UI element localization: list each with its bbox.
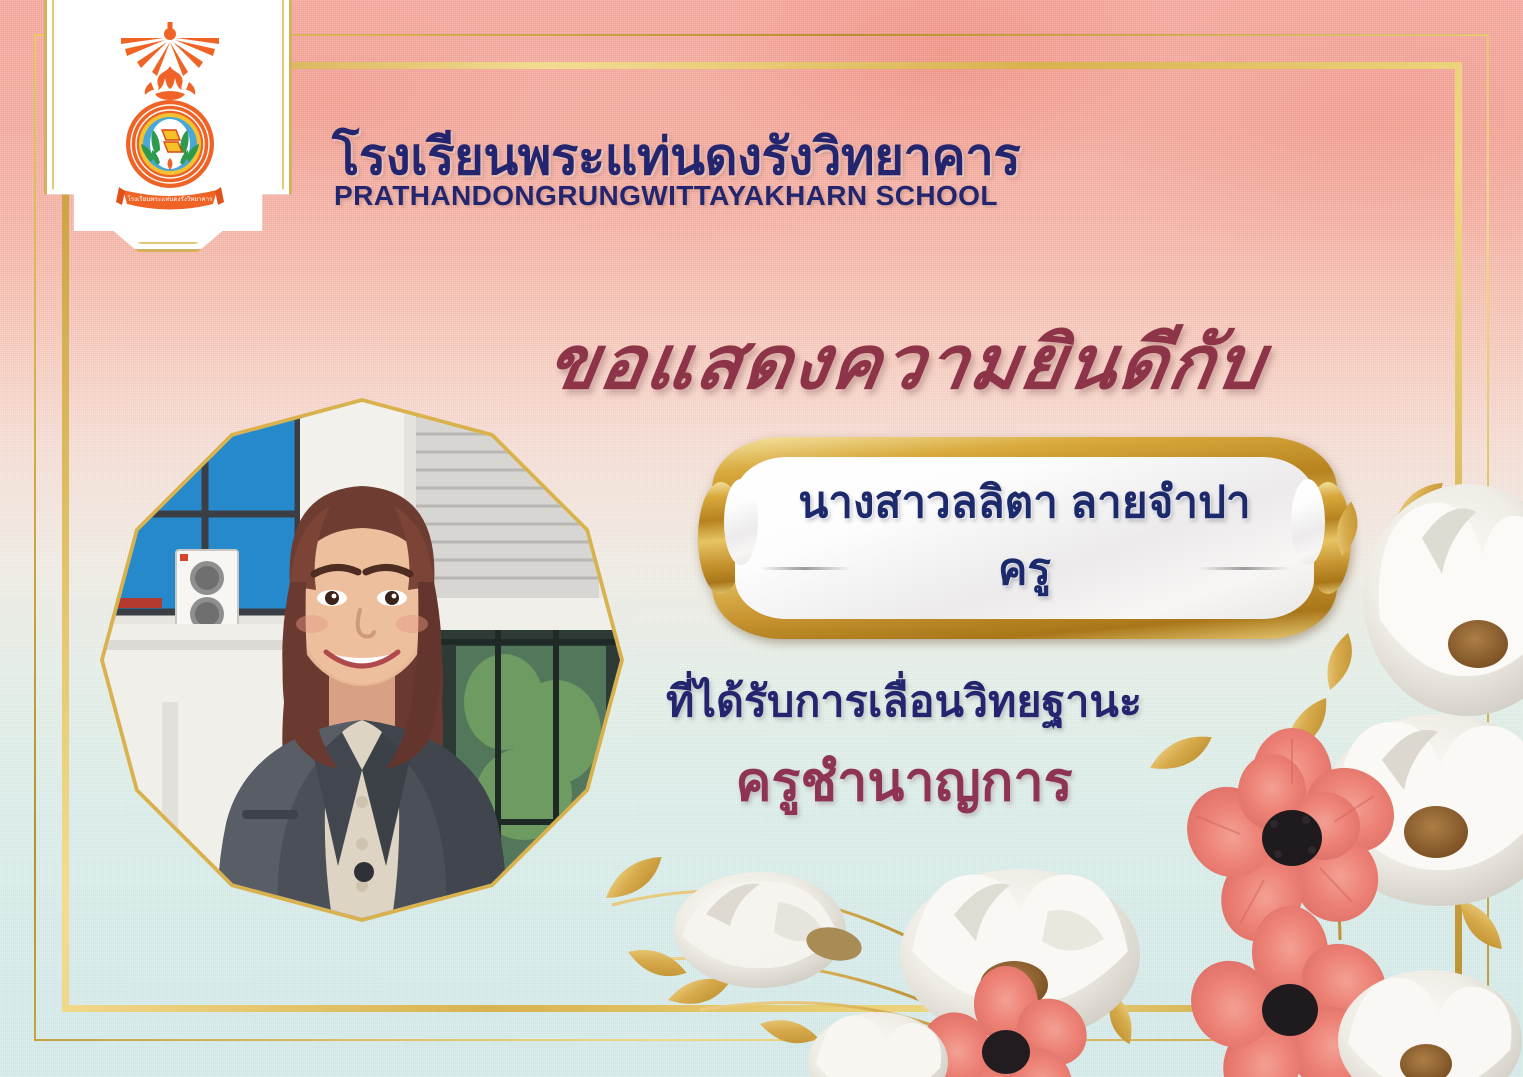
svg-text:โรงเรียนพระแท่นดงรังวิทยาคาร: โรงเรียนพระแท่นดงรังวิทยาคาร [128,195,214,203]
honoree-name: นางสาวลลิตา ลายจำปา [712,467,1337,537]
promotion-rank: ครูชำนาญการ [0,738,1523,824]
promotion-line: ที่ได้รับการเลื่อนวิทยฐานะ [0,667,1523,735]
certificate-canvas: โรงเรียนพระแท่นดงรังวิทยาคาร โรงเรียนพระ… [0,0,1523,1077]
school-name-english: PRATHANDONGRUNGWITTAYAKHARN SCHOOL [334,180,998,212]
name-plaque: นางสาวลลิตา ลายจำปา ครู [712,437,1337,639]
congratulation-headline: ขอแสดงความยินดีกับ [539,303,1275,421]
school-crest-icon: โรงเรียนพระแท่นดงรังวิทยาคาร [95,22,245,227]
honoree-position: ครู [712,534,1337,604]
